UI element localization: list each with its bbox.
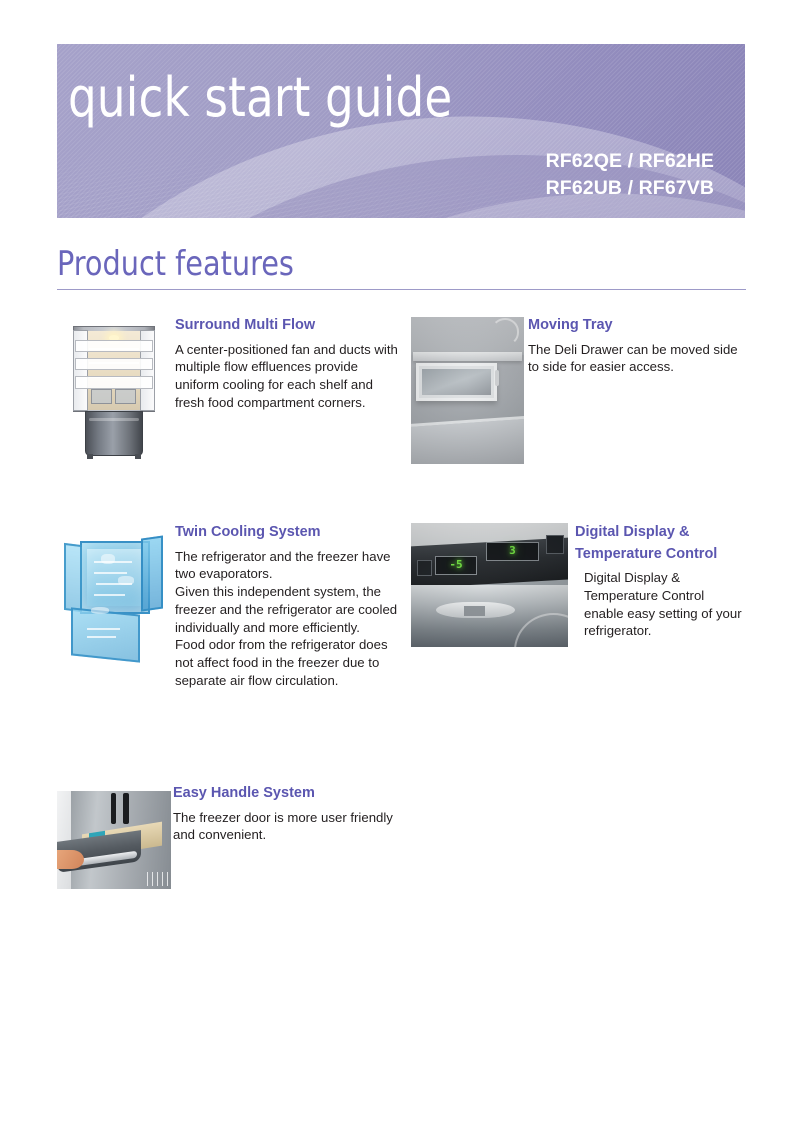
fridge-crisper-drawer: [91, 389, 112, 404]
section-divider: [57, 289, 746, 290]
refrigerator-open-doors-photo: [60, 320, 168, 460]
easy-handle-photo: [57, 791, 171, 889]
tray-vignette: [411, 317, 524, 464]
xray-left-door: [64, 543, 82, 612]
hero-banner: quick start guide RF62QE / RF62HE RF62UB…: [57, 44, 745, 218]
feature-body: Digital Display & Temperature Control en…: [584, 569, 745, 640]
handle-vents: [147, 872, 168, 886]
xray-cabinet-interior: [87, 549, 142, 607]
twin-cooling-xray-photo: [60, 530, 172, 670]
model-numbers-line-1: RF62QE / RF62HE: [546, 148, 714, 175]
feature-title: Moving Tray: [528, 315, 743, 337]
xray-component: [118, 576, 134, 584]
fridge-door-bin: [75, 340, 153, 353]
fridge-foot: [135, 454, 141, 458]
xray-cabinet: [80, 541, 149, 614]
feature-twin-cooling-system: Twin Cooling System The refrigerator and…: [175, 522, 400, 690]
feature-title: Easy Handle System: [173, 783, 398, 805]
model-numbers: RF62QE / RF62HE RF62UB / RF67VB: [546, 148, 714, 202]
fridge-crisper-drawer: [115, 389, 136, 404]
feature-surround-multi-flow: Surround Multi Flow A center-positioned …: [175, 315, 400, 412]
deli-drawer-photo: [411, 317, 524, 464]
vertical-handle: [123, 793, 129, 824]
model-numbers-line-2: RF62UB / RF67VB: [546, 175, 714, 202]
feature-body: A center-positioned fan and ducts with m…: [175, 341, 400, 412]
xray-evaporator-coil: [94, 594, 125, 596]
fridge-foot: [87, 454, 93, 458]
fridge-freezer-drawer: [85, 411, 143, 456]
xray-component: [91, 607, 109, 614]
xray-freezer-drawer: [71, 608, 140, 663]
xray-evaporator-coil: [87, 636, 116, 638]
page-title: quick start guide: [68, 67, 452, 129]
feature-digital-display: Digital Display & Temperature Control Di…: [575, 522, 745, 640]
fridge-door-bin: [75, 358, 153, 371]
vertical-handle: [111, 793, 117, 824]
display-vignette: [411, 523, 568, 647]
digital-display-panel-photo: -5 3: [411, 523, 568, 647]
feature-title: Digital Display & Temperature Control: [575, 522, 745, 565]
feature-body: The refrigerator and the freezer have tw…: [175, 548, 400, 690]
fridge-door-bin: [75, 376, 153, 389]
feature-easy-handle-system: Easy Handle System The freezer door is m…: [173, 783, 398, 844]
feature-moving-tray: Moving Tray The Deli Drawer can be moved…: [528, 315, 743, 376]
feature-title: Surround Multi Flow: [175, 315, 400, 337]
xray-evaporator-coil: [94, 572, 128, 574]
feature-body: The freezer door is more user friendly a…: [173, 809, 398, 845]
feature-title: Twin Cooling System: [175, 522, 400, 544]
xray-right-door: [141, 535, 163, 611]
xray-evaporator-coil: [87, 628, 121, 630]
section-title: Product features: [57, 242, 294, 286]
feature-body: The Deli Drawer can be moved side to sid…: [528, 341, 743, 377]
xray-fan: [101, 554, 114, 564]
